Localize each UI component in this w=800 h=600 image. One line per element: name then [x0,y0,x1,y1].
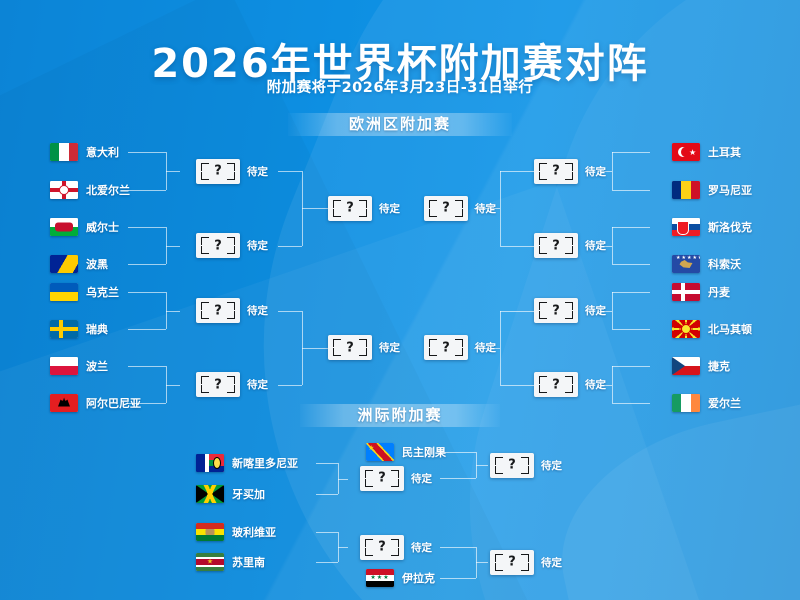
bracket-line [316,494,338,495]
tbd-label: 待定 [475,340,496,355]
question-mark-icon: ? [490,459,534,472]
tbd-label: 待定 [585,164,606,179]
flag-dr-congo-icon: ★ [366,443,394,461]
tbd-box: ? [196,298,240,323]
bracket-line [278,385,302,386]
playoff-bracket-poster: 2026年世界杯附加赛对阵 附加赛将于2026年3月23日-31日举行 欧洲区附… [0,0,800,600]
question-mark-icon: ? [196,165,240,178]
flag-slovakia-icon [672,218,700,236]
section-header-intercontinental: 洲际附加赛 [300,404,500,427]
question-mark-icon: ? [328,341,372,354]
team-row: ★★★★★★科索沃 [672,254,741,274]
tbd-europe-d1: ?待定 [534,298,606,324]
bracket-line [500,385,534,386]
tbd-box: ? [534,298,578,323]
tbd-label: 待定 [411,540,432,555]
bracket-line [166,311,180,312]
tbd-europe-b1: ?待定 [196,298,268,324]
team-name: 斯洛伐克 [708,219,752,235]
bracket-line [316,463,338,464]
team-name: 捷克 [708,358,730,374]
flag-northern-ireland-icon [50,181,78,199]
tbd-label: 待定 [585,377,606,392]
tbd-label: 待定 [585,238,606,253]
tbd-label: 待定 [379,201,400,216]
tbd-box: ? [196,372,240,397]
bracket-line [440,478,476,479]
tbd-box: ? [360,466,404,491]
tbd-inter-a: ?待定 [360,465,432,491]
bracket-line [612,227,650,228]
bracket-line [612,264,650,265]
tbd-box: ? [360,535,404,560]
team-name: 乌克兰 [86,284,119,300]
bracket-line [612,292,613,329]
tbd-europe-c2: ?待定 [534,233,606,259]
bracket-line [440,547,476,548]
team-row: 玻利维亚 [196,522,276,542]
tbd-europe-a-final: ?待定 [328,195,400,221]
flag-iraq-icon: ★★★ [366,569,394,587]
tbd-europe-b2: ?待定 [196,372,268,398]
tbd-box: ? [534,372,578,397]
bracket-line [278,246,302,247]
flag-wales-icon [50,218,78,236]
team-name: 瑞典 [86,321,108,337]
bracket-line [166,246,180,247]
tbd-inter-a-final: ?待定 [490,452,562,478]
question-mark-icon: ? [534,239,578,252]
tbd-box: ? [328,196,372,221]
flag-romania-icon [672,181,700,199]
question-mark-icon: ? [534,165,578,178]
question-mark-icon: ? [424,341,468,354]
question-mark-icon: ? [360,541,404,554]
tbd-label: 待定 [247,238,268,253]
tbd-label: 待定 [541,555,562,570]
tbd-inter-b: ?待定 [360,534,432,560]
tbd-europe-d-final: ?待定 [424,335,496,361]
tbd-europe-a2: ?待定 [196,233,268,259]
bracket-line [128,403,166,404]
team-row: ★★★伊拉克 [366,568,435,588]
tbd-label: 待定 [379,340,400,355]
flag-poland-icon [50,357,78,375]
tbd-box: ? [424,335,468,360]
tbd-inter-b-final: ?待定 [490,549,562,575]
tbd-europe-b-final: ?待定 [328,335,400,361]
question-mark-icon: ? [360,472,404,485]
tbd-box: ? [490,453,534,478]
section-header-europe: 欧洲区附加赛 [288,113,512,136]
bracket-line [128,190,166,191]
bracket-line [500,311,501,385]
bracket-line [128,292,166,293]
tbd-box: ? [424,196,468,221]
bracket-line [128,264,166,265]
team-row: 斯洛伐克 [672,217,752,237]
tbd-europe-c1: ?待定 [534,158,606,184]
bracket-line [302,208,328,209]
team-row: ★民主刚果 [366,442,446,462]
bracket-line [316,532,338,533]
bracket-line [612,403,650,404]
bracket-line [302,348,328,349]
tbd-europe-a1: ?待定 [196,158,268,184]
background-swoosh-5 [539,385,800,600]
team-name: 新喀里多尼亚 [232,455,298,471]
team-name: 波兰 [86,358,108,374]
flag-jamaica-icon [196,485,224,503]
team-row: 罗马尼亚 [672,180,752,200]
team-row: 牙买加 [196,484,265,504]
question-mark-icon: ? [196,304,240,317]
bracket-line [612,292,650,293]
flag-czechia-icon [672,357,700,375]
bracket-line [612,366,650,367]
team-name: 玻利维亚 [232,524,276,540]
question-mark-icon: ? [424,202,468,215]
team-name: 北马其顿 [708,321,752,337]
team-name: 科索沃 [708,256,741,272]
tbd-box: ? [196,159,240,184]
tbd-label: 待定 [585,303,606,318]
team-row: ★苏里南 [196,552,265,572]
bracket-line [612,366,613,403]
question-mark-icon: ? [490,556,534,569]
bracket-line [500,171,501,246]
team-row: 波兰 [50,356,108,376]
bracket-line [128,366,166,367]
flag-denmark-icon [672,283,700,301]
flag-suriname-icon: ★ [196,553,224,571]
team-row: 爱尔兰 [672,393,741,413]
page-subtitle: 附加赛将于2026年3月23日-31日举行 [0,76,800,97]
question-mark-icon: ? [534,304,578,317]
team-row: 北马其顿 [672,319,752,339]
team-row: 捷克 [672,356,730,376]
tbd-label: 待定 [247,377,268,392]
team-name: 爱尔兰 [708,395,741,411]
bracket-line [128,152,166,153]
team-name: 苏里南 [232,554,265,570]
bracket-line [166,385,180,386]
bracket-line [500,171,534,172]
flag-ireland-icon [672,394,700,412]
question-mark-icon: ? [328,202,372,215]
bracket-line [612,190,650,191]
tbd-label: 待定 [541,458,562,473]
tbd-label: 待定 [247,303,268,318]
team-row: 丹麦 [672,282,730,302]
flag-turkey-icon: ★ [672,143,700,161]
team-row: 新喀里多尼亚 [196,453,298,473]
team-name: 丹麦 [708,284,730,300]
bracket-line [316,562,338,563]
team-name: 土耳其 [708,144,741,160]
question-mark-icon: ? [196,378,240,391]
bracket-line [338,479,348,480]
bracket-line [278,311,302,312]
team-name: 波黑 [86,256,108,272]
team-row: 乌克兰 [50,282,119,302]
bracket-line [500,311,534,312]
team-row: 北爱尔兰 [50,180,130,200]
team-name: 伊拉克 [402,570,435,586]
bracket-line [278,171,302,172]
flag-albania-icon: ★ [50,394,78,412]
tbd-europe-d2: ?待定 [534,372,606,398]
bracket-line [128,227,166,228]
team-name: 牙买加 [232,486,265,502]
team-name: 北爱尔兰 [86,182,130,198]
tbd-label: 待定 [247,164,268,179]
tbd-box: ? [534,233,578,258]
bracket-line [612,227,613,264]
tbd-box: ? [534,159,578,184]
flag-sweden-icon [50,320,78,338]
tbd-label: 待定 [475,201,496,216]
bracket-line [612,152,613,190]
bracket-line [166,171,180,172]
bracket-line [476,465,488,466]
flag-bolivia-icon [196,523,224,541]
team-name: 威尔士 [86,219,119,235]
flag-bosnia-icon [50,255,78,273]
bracket-line [440,452,476,453]
team-row: 意大利 [50,142,119,162]
flag-kosovo-icon: ★★★★★★ [672,255,700,273]
tbd-box: ? [196,233,240,258]
bracket-line [612,329,650,330]
bracket-line [440,578,476,579]
bracket-line [128,329,166,330]
team-row: ★土耳其 [672,142,741,162]
question-mark-icon: ? [534,378,578,391]
tbd-box: ? [328,335,372,360]
flag-new-caledonia-icon [196,454,224,472]
flag-italy-icon [50,143,78,161]
flag-north-macedonia-icon [672,320,700,338]
tbd-box: ? [490,550,534,575]
team-row: 威尔士 [50,217,119,237]
flag-ukraine-icon [50,283,78,301]
question-mark-icon: ? [196,239,240,252]
team-name: 意大利 [86,144,119,160]
team-row: 波黑 [50,254,108,274]
team-row: 瑞典 [50,319,108,339]
bracket-line [500,246,534,247]
bracket-line [612,152,650,153]
team-name: 罗马尼亚 [708,182,752,198]
bracket-line [476,562,488,563]
tbd-europe-c-final: ?待定 [424,195,496,221]
bracket-line [338,547,348,548]
tbd-label: 待定 [411,471,432,486]
